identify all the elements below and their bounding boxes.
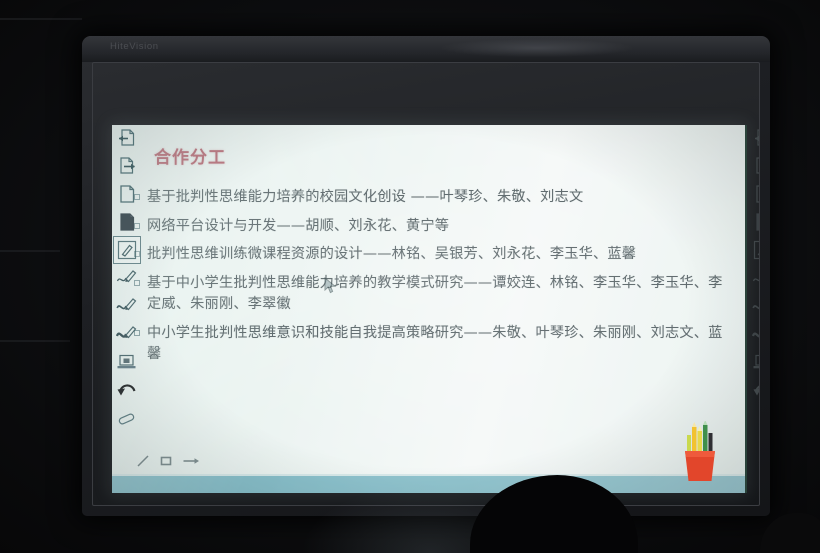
shape-tool-strip[interactable] bbox=[136, 454, 200, 473]
list-item: 中小学生批判性思维意识和技能自我提高策略研究——朱敬、叶琴珍、朱丽刚、刘志文、蓝… bbox=[134, 323, 731, 366]
wall-seam bbox=[0, 250, 60, 252]
pen-thin-icon[interactable] bbox=[750, 265, 760, 291]
wall-seam bbox=[0, 18, 82, 20]
left-tool-palette[interactable] bbox=[112, 125, 142, 433]
pen-medium-icon[interactable] bbox=[750, 293, 760, 319]
right-tool-palette[interactable] bbox=[750, 125, 760, 405]
pen-thick-icon[interactable] bbox=[750, 321, 760, 347]
slide-title: 合作分工 bbox=[154, 143, 226, 168]
audience-head-silhouette bbox=[760, 513, 820, 553]
pen-select-icon[interactable] bbox=[750, 237, 760, 263]
screen-icon[interactable] bbox=[750, 349, 760, 375]
list-item-text: 批判性思维训练微课程资源的设计——林铭、吴银芳、刘永花、李玉华、蓝馨 bbox=[147, 244, 731, 266]
next-page-icon[interactable] bbox=[114, 153, 140, 179]
list-item: 基于批判性思维能力培养的校园文化创设 ——叶琴珍、朱敬、刘志文 bbox=[134, 187, 731, 209]
line-icon[interactable] bbox=[136, 454, 150, 473]
rectangle-icon[interactable] bbox=[159, 454, 173, 473]
previous-page-icon[interactable] bbox=[750, 125, 760, 151]
slide-canvas: 合作分工 基于批判性思维能力培养的校园文化创设 ——叶琴珍、朱敬、刘志文 网络平… bbox=[112, 125, 745, 493]
previous-page-icon[interactable] bbox=[114, 125, 140, 151]
pen-select-icon[interactable] bbox=[114, 237, 140, 263]
eraser-icon[interactable] bbox=[114, 405, 140, 431]
pen-medium-icon[interactable] bbox=[114, 293, 140, 319]
list-item-text: 中小学生批判性思维意识和技能自我提高策略研究——朱敬、叶琴珍、朱丽刚、刘志文、蓝… bbox=[147, 323, 731, 366]
pen-thick-icon[interactable] bbox=[114, 321, 140, 347]
page-fill-icon[interactable] bbox=[750, 209, 760, 235]
brand-label: HiteVision bbox=[110, 41, 159, 52]
pencil-cup-clipart bbox=[677, 421, 723, 483]
mouse-pointer-icon bbox=[324, 277, 337, 299]
list-item-text: 网络平台设计与开发——胡顺、刘永花、黄宁等 bbox=[147, 216, 731, 238]
list-item-text: 基于批判性思维能力培养的校园文化创设 ——叶琴珍、朱敬、刘志文 bbox=[147, 187, 731, 209]
projected-slide-area[interactable]: 合作分工 基于批判性思维能力培养的校园文化创设 ——叶琴珍、朱敬、刘志文 网络平… bbox=[112, 125, 745, 493]
arrow-icon[interactable] bbox=[182, 454, 200, 473]
list-item: 批判性思维训练微课程资源的设计——林铭、吴银芳、刘永花、李玉华、蓝馨 bbox=[134, 244, 731, 266]
next-page-icon[interactable] bbox=[750, 153, 760, 179]
projection-edge-strip bbox=[745, 125, 747, 493]
screen-icon[interactable] bbox=[114, 349, 140, 375]
page-fill-icon[interactable] bbox=[114, 209, 140, 235]
new-page-icon[interactable] bbox=[114, 181, 140, 207]
new-page-icon[interactable] bbox=[750, 181, 760, 207]
pen-thin-icon[interactable] bbox=[114, 265, 140, 291]
slide-bottom-band bbox=[112, 476, 745, 493]
whiteboard-surface[interactable]: 合作分工 基于批判性思维能力培养的校园文化创设 ——叶琴珍、朱敬、刘志文 网络平… bbox=[92, 62, 760, 506]
bezel-top-strip: HiteVision bbox=[82, 36, 770, 62]
room-backdrop: HiteVision 合作分工 bbox=[0, 0, 820, 553]
slide-bullet-list: 基于批判性思维能力培养的校园文化创设 ——叶琴珍、朱敬、刘志文 网络平台设计与开… bbox=[134, 187, 731, 373]
undo-icon[interactable] bbox=[750, 377, 760, 403]
undo-icon[interactable] bbox=[114, 377, 140, 403]
list-item: 网络平台设计与开发——胡顺、刘永花、黄宁等 bbox=[134, 216, 731, 238]
whiteboard-bezel: HiteVision 合作分工 bbox=[82, 36, 770, 516]
wall-seam bbox=[0, 340, 70, 342]
bezel-glare bbox=[442, 39, 632, 57]
list-item: 基于中小学生批判性思维能力培养的教学模式研究——谭姣连、林铭、李玉华、李玉华、李… bbox=[134, 273, 731, 316]
list-item-text: 基于中小学生批判性思维能力培养的教学模式研究——谭姣连、林铭、李玉华、李玉华、李… bbox=[147, 273, 731, 316]
